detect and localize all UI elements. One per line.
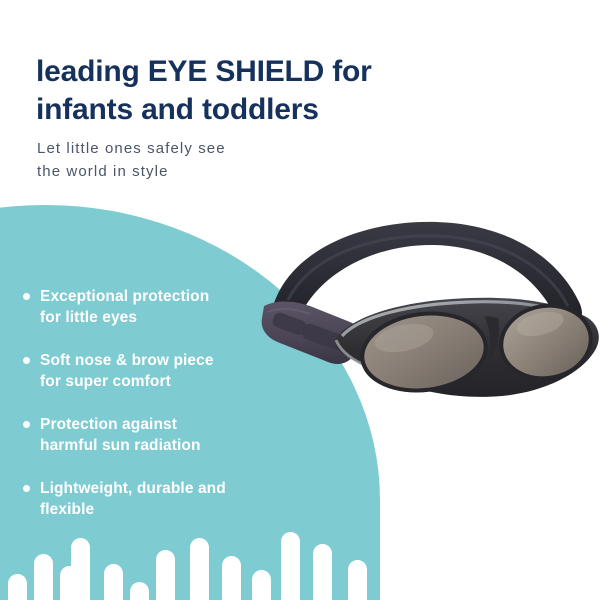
product-image-baby-sunglasses [258,212,600,427]
feature-bullet-item: Protection againstharmful sun radiation [18,414,268,456]
headline-line: infants and toddlers [36,91,456,129]
page-subheading: Let little ones safely seethe world in s… [37,137,337,183]
product-marketing-image: leading EYE SHIELD forinfants and toddle… [0,0,600,600]
bullet-dot-icon [23,293,30,300]
headline-line: leading EYE SHIELD for [36,53,456,91]
feature-bullet-line: Lightweight, durable and [40,478,268,499]
feature-bullet-line: Soft nose & brow piece [40,350,268,371]
feature-bullet-line: harmful sun radiation [40,435,268,456]
decorative-bar [281,532,300,600]
decorative-bar [8,574,27,600]
feature-bullet-list: Exceptional protectionfor little eyesSof… [18,286,268,520]
decorative-bar [252,570,271,600]
feature-bullet-text: Lightweight, durable andflexible [40,478,268,520]
feature-bullet-item: Lightweight, durable andflexible [18,478,268,520]
decorative-bar [71,538,90,600]
decorative-bar [130,582,149,600]
feature-bullet-text: Exceptional protectionfor little eyes [40,286,268,328]
feature-bullet-item: Exceptional protectionfor little eyes [18,286,268,328]
subheading-line: Let little ones safely see [37,137,337,160]
feature-bullet-line: Exceptional protection [40,286,268,307]
decorative-bar [313,544,332,600]
feature-bullet-text: Soft nose & brow piecefor super comfort [40,350,268,392]
bullet-dot-icon [23,357,30,364]
page-headline: leading EYE SHIELD forinfants and toddle… [36,53,456,129]
decorative-bar [156,550,175,600]
feature-bullet-line: for little eyes [40,307,268,328]
subheading-line: the world in style [37,160,337,183]
bullet-dot-icon [23,421,30,428]
decorative-bar [222,556,241,600]
bullet-dot-icon [23,485,30,492]
feature-bullet-line: Protection against [40,414,268,435]
feature-bullet-item: Soft nose & brow piecefor super comfort [18,350,268,392]
feature-bullet-line: for super comfort [40,371,268,392]
decorative-bar [348,560,367,600]
decorative-bar [34,554,53,600]
feature-bullet-text: Protection againstharmful sun radiation [40,414,268,456]
bottom-bar-decoration [0,530,600,600]
decorative-bar [104,564,123,600]
feature-bullet-line: flexible [40,499,268,520]
decorative-bar [190,538,209,600]
